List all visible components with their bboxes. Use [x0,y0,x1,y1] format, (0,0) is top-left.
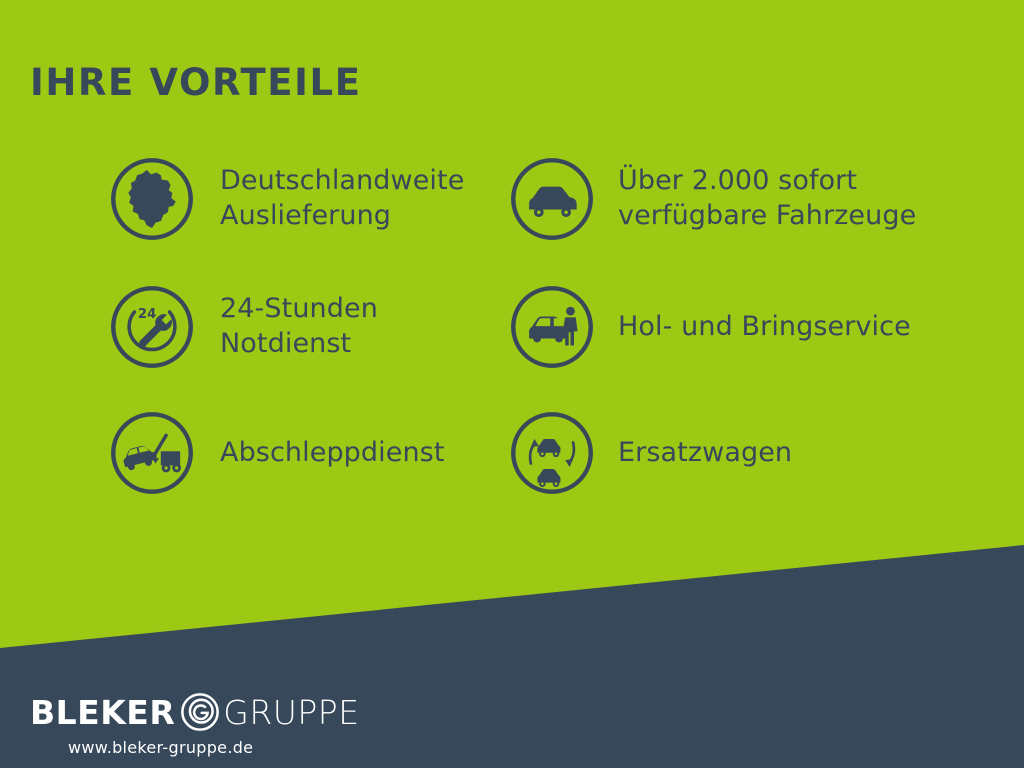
icon-text-24: 24 [138,307,156,322]
benefit-item-verfuegbare-fahrzeuge: Über 2.000 sofort verfügbare Fahrzeuge [508,155,916,243]
benefit-label: Ersatzwagen [618,436,792,471]
logo-wordmark-bleker: BLEKER [30,696,175,729]
car-icon [508,155,596,243]
car-with-person-icon [508,283,596,371]
benefit-item-ersatzwagen: Ersatzwagen [508,409,792,497]
footer-logo-block: BLEKER GRUPPE www.bleker-gruppe.de [30,690,450,757]
replacement-car-icon [508,409,596,497]
footer-website-url: www.bleker-gruppe.de [68,738,450,757]
benefit-label: Deutschlandweite Auslieferung [220,164,464,233]
benefit-item-abschleppdienst: Abschleppdienst [108,409,445,497]
slide-canvas: IHRE VORTEILE Deutschlandweite Ausliefer… [0,0,1024,768]
spiral-circle-logo-icon [179,691,221,733]
benefit-item-hol-und-bringservice: Hol- und Bringservice [508,283,911,371]
benefit-item-deutschlandweite-auslieferung: Deutschlandweite Auslieferung [108,155,464,243]
benefit-label: Über 2.000 sofort verfügbare Fahrzeuge [618,164,916,233]
tow-truck-icon [108,409,196,497]
logo-row: BLEKER GRUPPE [30,690,450,734]
logo-wordmark-gruppe: GRUPPE [223,696,359,729]
germany-map-icon [108,155,196,243]
benefit-item-24-stunden-notdienst: 24 24-Stunden Notdienst [108,283,378,371]
benefit-label: 24-Stunden Notdienst [220,292,378,361]
24-hour-wrench-icon: 24 [108,283,196,371]
benefit-label: Abschleppdienst [220,436,445,471]
benefits-grid: Deutschlandweite Auslieferung Über 2.000… [0,0,1024,530]
benefit-label: Hol- und Bringservice [618,310,911,345]
